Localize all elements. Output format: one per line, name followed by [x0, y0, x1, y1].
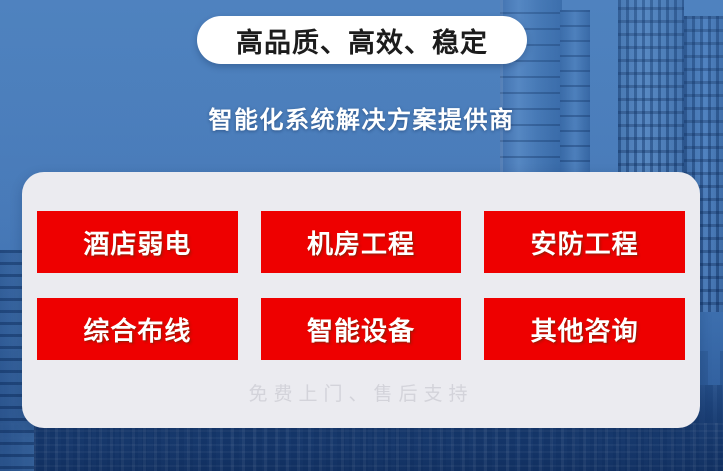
service-button-security-engineering[interactable]: 安防工程 — [484, 211, 685, 273]
service-button-label: 综合布线 — [83, 311, 191, 348]
card-footer-note: 免费上门、售后支持 — [22, 379, 700, 406]
headline-badge: 高品质、高效、稳定 — [197, 16, 527, 64]
service-button-data-center[interactable]: 机房工程 — [261, 211, 462, 273]
banner-subtitle: 智能化系统解决方案提供商 — [0, 100, 723, 135]
promo-banner: 高品质、高效、稳定 智能化系统解决方案提供商 酒店弱电 机房工程 安防工程 综合… — [0, 0, 723, 471]
headline-badge-text: 高品质、高效、稳定 — [236, 21, 488, 60]
service-button-label: 智能设备 — [307, 311, 415, 348]
services-grid: 酒店弱电 机房工程 安防工程 综合布线 智能设备 其他咨询 — [37, 211, 685, 360]
service-button-other-inquiry[interactable]: 其他咨询 — [484, 298, 685, 360]
service-button-label: 安防工程 — [531, 224, 639, 261]
service-button-label: 其他咨询 — [531, 311, 639, 348]
service-button-label: 酒店弱电 — [83, 224, 191, 261]
service-button-hotel-weak-current[interactable]: 酒店弱电 — [37, 211, 238, 273]
service-button-smart-devices[interactable]: 智能设备 — [261, 298, 462, 360]
service-button-structured-cabling[interactable]: 综合布线 — [37, 298, 238, 360]
service-button-label: 机房工程 — [307, 224, 415, 261]
services-card: 酒店弱电 机房工程 安防工程 综合布线 智能设备 其他咨询 免费上门、售后支持 — [22, 172, 700, 428]
